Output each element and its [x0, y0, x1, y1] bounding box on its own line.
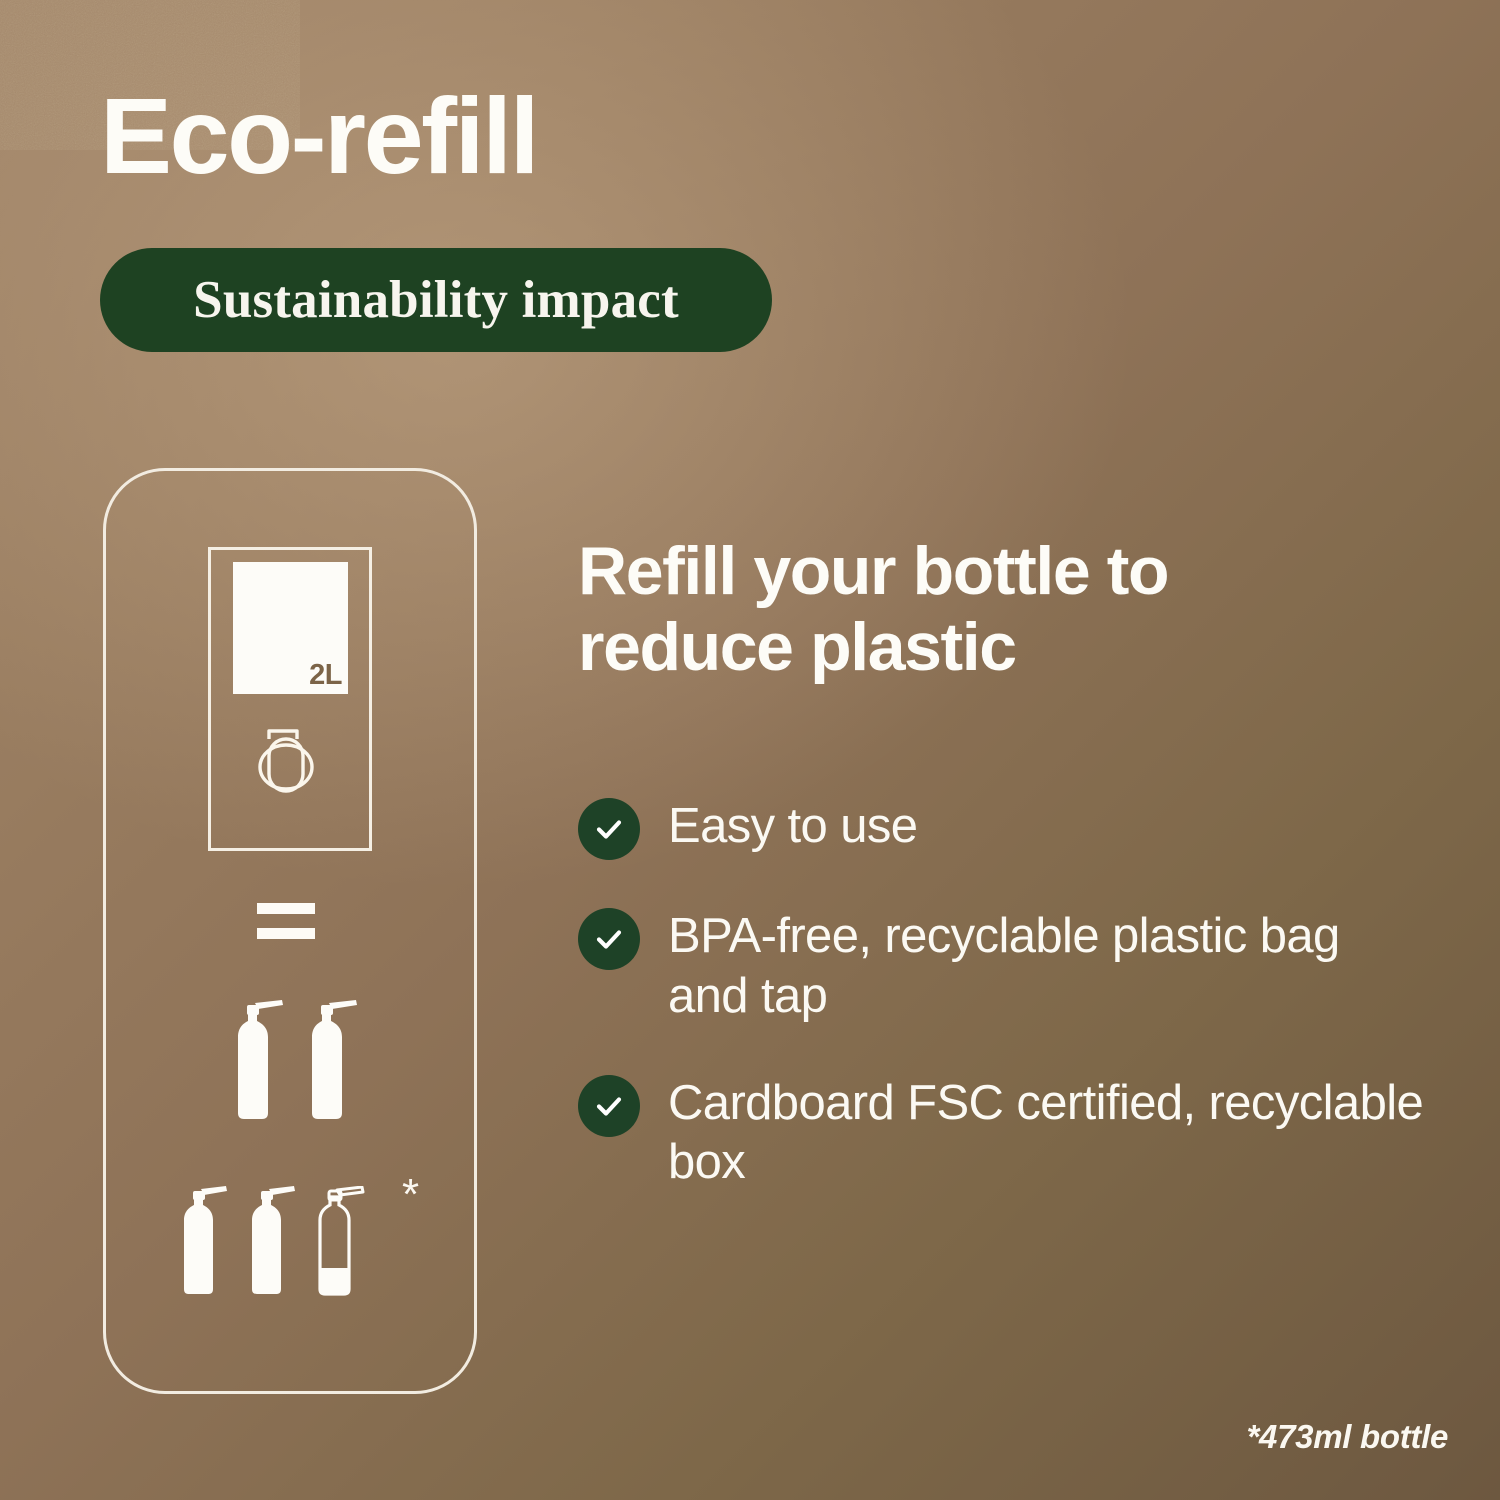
equals-symbol [257, 903, 315, 939]
check-icon [578, 908, 640, 970]
pump-bottle-filled-icon [224, 999, 286, 1121]
tap-icon [253, 723, 319, 795]
equals-bar-bottom [257, 928, 315, 939]
poster-canvas: Eco-refill Sustainability impact 2L [0, 0, 1500, 1500]
equals-bar-top [257, 903, 315, 914]
headline: Refill your bottle to reduce plastic [578, 533, 1368, 685]
list-item: Cardboard FSC certified, recyclable box [578, 1073, 1428, 1194]
list-item-label: Easy to use [668, 796, 917, 857]
list-item-label: Cardboard FSC certified, recyclable box [668, 1073, 1428, 1194]
page-title: Eco-refill [100, 82, 537, 190]
check-icon [578, 1075, 640, 1137]
benefits-list: Easy to use BPA-free, recyclable plastic… [578, 796, 1428, 1239]
carton-label-area: 2L [233, 562, 348, 694]
pump-bottle-filled-icon [240, 1186, 298, 1296]
check-icon [578, 798, 640, 860]
refill-carton-icon: 2L [208, 547, 372, 851]
bottle-row-lower [172, 1186, 366, 1296]
sustainability-impact-badge: Sustainability impact [100, 248, 772, 352]
pump-bottle-filled-icon [298, 999, 360, 1121]
pump-bottle-partial-icon [308, 1186, 366, 1296]
list-item-label: BPA-free, recyclable plastic bag and tap [668, 906, 1428, 1027]
pump-bottle-filled-icon [172, 1186, 230, 1296]
bottle-row-upper [224, 999, 360, 1121]
footnote: *473ml bottle [1247, 1418, 1449, 1456]
badge-label: Sustainability impact [193, 270, 679, 330]
list-item: BPA-free, recyclable plastic bag and tap [578, 906, 1428, 1027]
equivalence-illustration-panel: 2L [103, 468, 477, 1394]
list-item: Easy to use [578, 796, 1428, 860]
footnote-asterisk-marker: * [402, 1173, 419, 1217]
carton-volume-label: 2L [309, 659, 342, 692]
